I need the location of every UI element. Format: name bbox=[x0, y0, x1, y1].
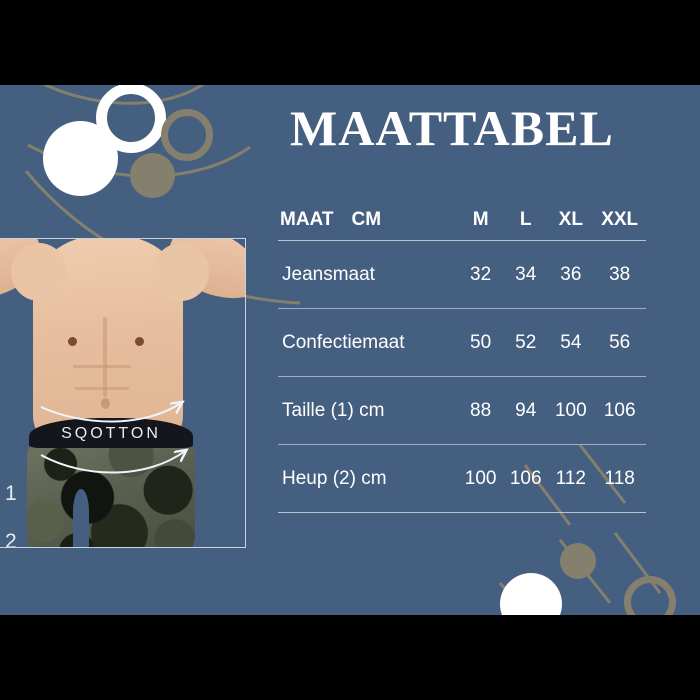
product-photo-frame: SQOTTON 1 2 bbox=[0, 238, 246, 548]
cell-heup-m: 100 bbox=[458, 445, 503, 513]
size-chart-canvas: MAATTABEL S bbox=[0, 85, 700, 615]
cell-heup-xl: 112 bbox=[548, 445, 593, 513]
model-ab-line-3 bbox=[75, 387, 129, 390]
table-row: Confectiemaat 50 52 54 56 bbox=[278, 309, 646, 377]
cell-taille-m: 88 bbox=[458, 377, 503, 445]
brand-label: SQOTTON bbox=[29, 425, 193, 443]
table-row: Jeansmaat 32 34 36 38 bbox=[278, 241, 646, 309]
column-header-m: M bbox=[458, 200, 503, 241]
cell-jeansmaat-l: 34 bbox=[503, 241, 548, 309]
table-row: Taille (1) cm 88 94 100 106 bbox=[278, 377, 646, 445]
table-header-row: MAATCM M L XL XXL bbox=[278, 200, 646, 241]
product-waistband: SQOTTON bbox=[29, 418, 193, 448]
model-navel bbox=[101, 398, 110, 409]
decor-circle-taupe-top bbox=[130, 153, 175, 198]
cell-confectiemaat-xxl: 56 bbox=[593, 309, 646, 377]
cell-taille-l: 94 bbox=[503, 377, 548, 445]
cell-jeansmaat-xxl: 38 bbox=[593, 241, 646, 309]
cell-heup-xxl: 118 bbox=[593, 445, 646, 513]
row-label-taille: Taille (1) cm bbox=[278, 377, 458, 445]
measurement-label-1: 1 bbox=[5, 482, 17, 506]
cell-jeansmaat-m: 32 bbox=[458, 241, 503, 309]
size-table-head: MAATCM M L XL XXL bbox=[278, 200, 646, 241]
column-header-l: L bbox=[503, 200, 548, 241]
column-header-cm: CM bbox=[351, 209, 381, 231]
letterbox-bottom bbox=[0, 615, 700, 700]
product-boxershort bbox=[27, 443, 195, 547]
cell-taille-xl: 100 bbox=[548, 377, 593, 445]
cell-heup-l: 106 bbox=[503, 445, 548, 513]
decor-circle-taupe-bottom bbox=[560, 543, 596, 579]
column-header-xl: XL bbox=[548, 200, 593, 241]
decor-ring-taupe-bottom bbox=[624, 576, 676, 615]
row-label-heup: Heup (2) cm bbox=[278, 445, 458, 513]
column-header-xxl: XXL bbox=[593, 200, 646, 241]
size-table-body: Jeansmaat 32 34 36 38 Confectiemaat 50 5… bbox=[278, 241, 646, 513]
decor-circle-white-bottom bbox=[500, 573, 562, 615]
row-label-jeansmaat: Jeansmaat bbox=[278, 241, 458, 309]
model-ab-line-2 bbox=[73, 365, 131, 368]
model-ab-line-1 bbox=[103, 317, 107, 397]
product-photo: SQOTTON 1 2 bbox=[0, 239, 245, 547]
size-table-container: MAATCM M L XL XXL Jeansmaat 32 34 36 38 bbox=[278, 200, 646, 513]
cell-taille-xxl: 106 bbox=[593, 377, 646, 445]
model-shoulder-right bbox=[153, 243, 209, 301]
column-header-maat: MAAT bbox=[280, 209, 333, 231]
table-row: Heup (2) cm 100 106 112 118 bbox=[278, 445, 646, 513]
screenshot-stage: MAATTABEL S bbox=[0, 0, 700, 700]
cell-confectiemaat-xl: 54 bbox=[548, 309, 593, 377]
size-table: MAATCM M L XL XXL Jeansmaat 32 34 36 38 bbox=[278, 200, 646, 513]
column-header-measure: MAATCM bbox=[278, 200, 458, 241]
decor-circle-white-top bbox=[43, 121, 118, 196]
row-label-confectiemaat: Confectiemaat bbox=[278, 309, 458, 377]
cell-jeansmaat-xl: 36 bbox=[548, 241, 593, 309]
model-shoulder-left bbox=[11, 243, 67, 301]
cell-confectiemaat-m: 50 bbox=[458, 309, 503, 377]
decor-ring-taupe-top bbox=[161, 109, 213, 161]
page-title: MAATTABEL bbox=[290, 99, 614, 157]
measurement-label-2: 2 bbox=[5, 530, 17, 547]
cell-confectiemaat-l: 52 bbox=[503, 309, 548, 377]
model-chest-detail-right bbox=[135, 337, 144, 346]
model-chest-detail-left bbox=[68, 337, 77, 346]
letterbox-top bbox=[0, 0, 700, 85]
product-leg-gap bbox=[73, 489, 89, 547]
